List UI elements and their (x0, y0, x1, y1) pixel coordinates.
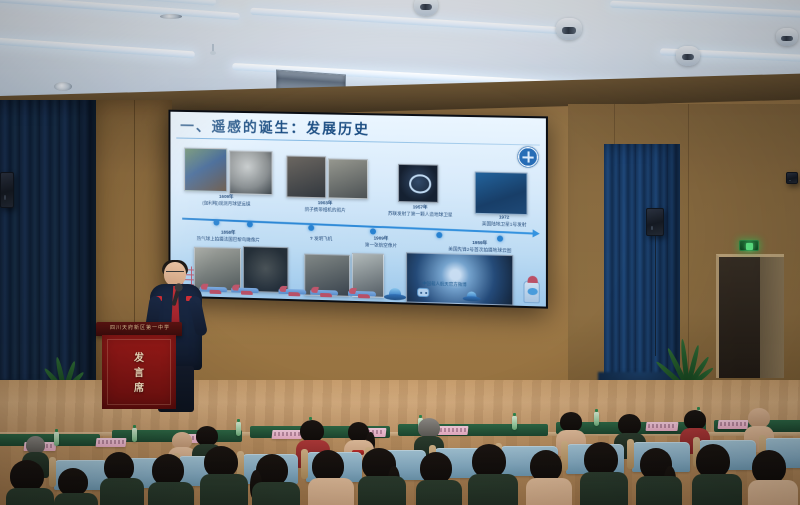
slide-caption-1609: 1609年 (伽利略)观测月球望远镜 (174, 193, 278, 209)
speaking-podium: 四川天府新区第一中学 发 言 席 (96, 322, 182, 410)
water-bottle (236, 422, 241, 436)
podium-label: 发 言 席 (102, 351, 176, 396)
slide-image-aerial-camera (328, 158, 368, 199)
slide-image-moon (229, 150, 272, 195)
slide-caption-1909: 1909年 第一张航空像片 (346, 235, 416, 251)
cartoon-airplane-icon (278, 287, 306, 297)
wall-speaker-right-icon (646, 208, 664, 236)
slide-image-pigeon-camera (286, 156, 326, 199)
ceiling-speaker-icon (414, 0, 438, 16)
timeline-dot (247, 221, 253, 227)
student-name-card (272, 430, 303, 439)
ceiling-speaker-icon (676, 46, 700, 66)
slide-caption-airplane: ? 发明飞机 (292, 235, 350, 243)
wall-speaker-far-icon (786, 172, 798, 184)
presentation-slide: 一、遥感的诞生：发展历史 1609年 (伽利略)观测月球望远镜 1903年 鸽子… (170, 112, 545, 307)
student-name-card (718, 420, 749, 429)
cartoon-ufo-icon (463, 291, 481, 301)
cartoon-airplane-icon (231, 285, 259, 295)
slide-caption-1858: 1858年 热气球上拍摄法国巴黎鸟瞰像片 (169, 228, 289, 245)
cartoon-airplane-icon (310, 288, 338, 298)
podium-char-1: 发 (102, 351, 176, 366)
cartoon-airplane-icon (348, 289, 376, 299)
sprinkler-head-icon (212, 44, 214, 53)
timeline-dot (213, 220, 219, 226)
water-bottle (512, 416, 517, 430)
slide-image-sputnik (398, 164, 438, 203)
student-name-card (646, 422, 679, 431)
presenter-glasses-icon (166, 271, 184, 275)
cartoon-ufo-icon (384, 288, 406, 301)
slide-image-telescope (184, 148, 227, 193)
ceiling-speaker-icon (556, 18, 582, 40)
student-name-card (438, 426, 469, 435)
slide-caption-1957: 1957年 苏联发射了第一颗人造地球卫星 (374, 203, 467, 219)
cartoon-robot-icon (416, 288, 430, 301)
rocket-capsule-icon (523, 281, 539, 304)
water-bottle (54, 432, 59, 446)
auditorium-photo: 一、遥感的诞生：发展历史 1609年 (伽利略)观测月球望远镜 1903年 鸽子… (0, 0, 800, 505)
ceiling-light-strip (610, 1, 800, 19)
slide-caption-1972: 1972 美国陆地卫星1号发射 (461, 213, 548, 229)
ceiling-speaker-icon (776, 28, 798, 46)
water-bottle (132, 428, 137, 442)
slide-title: 一、遥感的诞生：发展历史 (180, 116, 370, 139)
student-name-card (96, 438, 127, 447)
exit-sign-icon (739, 240, 759, 251)
podium-school-name: 四川天府新区第一中学 (102, 324, 178, 331)
podium-char-2: 言 (102, 366, 176, 381)
podium-char-3: 席 (102, 381, 176, 396)
slide-footer-note: 中国载人航天官方微博 (422, 281, 466, 288)
slide-image-landsat (475, 172, 528, 216)
student-audience (0, 398, 800, 505)
timeline-dot (370, 228, 376, 234)
projection-screen: 一、遥感的诞生：发展历史 1609年 (伽利略)观测月球望远镜 1903年 鸽子… (169, 110, 548, 309)
ceiling-downlight (54, 82, 72, 91)
door-leaf[interactable] (760, 257, 784, 378)
school-emblem-icon (517, 146, 538, 168)
ceiling-downlight (160, 14, 182, 19)
ceiling-light-strip (0, 37, 195, 59)
exit-doorway[interactable] (716, 254, 784, 378)
podium-top: 四川天府新区第一中学 (96, 322, 182, 336)
timeline-dot (436, 232, 442, 238)
timeline-dot (308, 225, 314, 231)
water-bottle (594, 412, 599, 426)
wall-speaker-left-icon (0, 172, 14, 208)
slide-caption-1903: 1903年 鸽子携带相机的照片 (277, 199, 374, 215)
